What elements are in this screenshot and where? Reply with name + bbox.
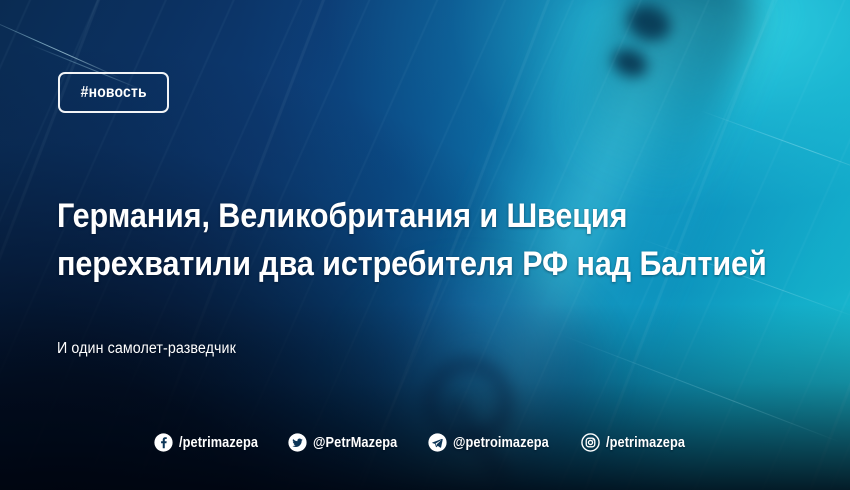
headline-line-2: перехватили два истребителя РФ над Балти… [57,240,712,288]
social-links-bar: /petrimazepa @PetrMazepa @petroimazepa [0,433,850,452]
social-link-facebook[interactable]: /petrimazepa [154,433,269,452]
social-handle-instagram: /petrimazepa [606,435,685,451]
social-link-instagram[interactable]: /petrimazepa [581,433,696,452]
card-content: #новость Германия, Великобритания и Швец… [0,0,850,490]
headline-line-1: Германия, Великобритания и Швеция [57,192,712,240]
social-handle-telegram: @petroimazepa [453,435,549,451]
news-tag-label: #новость [81,84,147,102]
social-handle-facebook: /petrimazepa [179,435,258,451]
facebook-icon [154,433,173,452]
news-card: #новость Германия, Великобритания и Швец… [0,0,850,490]
twitter-icon [288,433,307,452]
news-tag-badge[interactable]: #новость [58,72,169,113]
instagram-icon [581,433,600,452]
headline: Германия, Великобритания и Швеция перехв… [57,192,797,288]
social-link-twitter[interactable]: @PetrMazepa [288,433,409,452]
telegram-icon [428,433,447,452]
social-handle-twitter: @PetrMazepa [313,435,397,451]
subtitle: И один самолет-разведчик [57,340,236,358]
social-link-telegram[interactable]: @petroimazepa [428,433,562,452]
